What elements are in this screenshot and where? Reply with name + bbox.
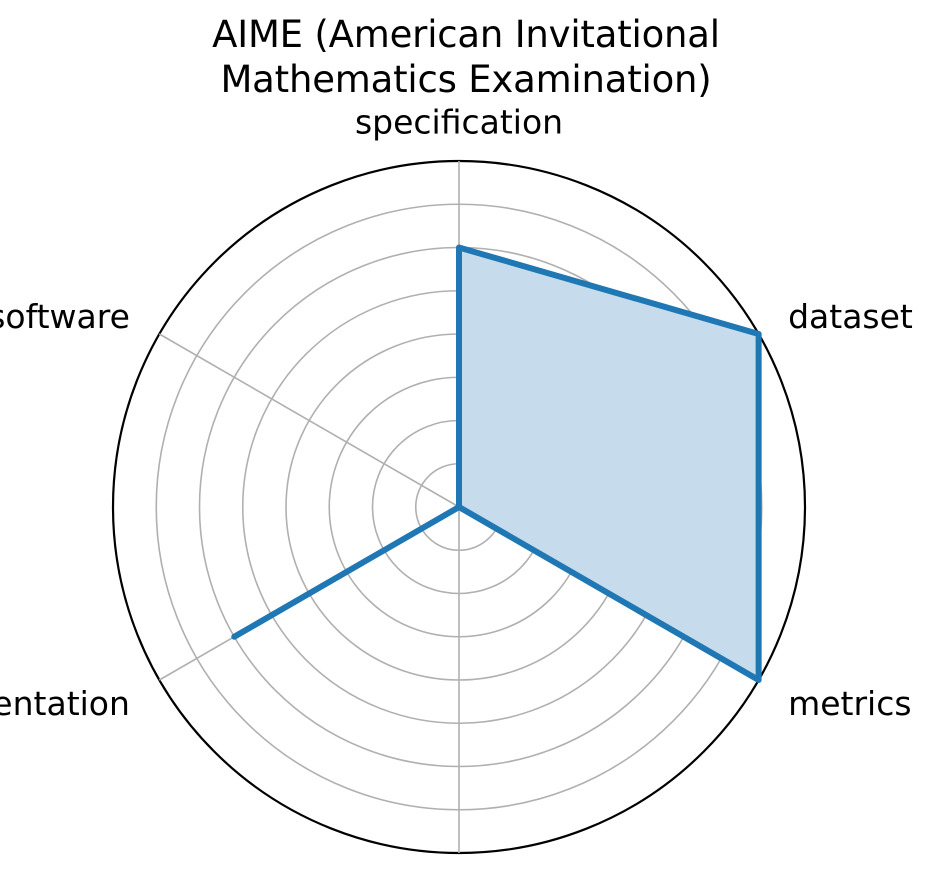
- axis-label-software: software: [0, 297, 130, 336]
- axis-label-documentation: documentation: [0, 684, 130, 723]
- axis-label-metrics: metrics: [788, 684, 911, 723]
- axis-label-specification: specification: [355, 103, 563, 142]
- axis-label-dataset: dataset: [788, 297, 913, 336]
- grid-spoke-software: [159, 334, 459, 507]
- radar-plot-area: specificationsoftwaredocumentationrefere…: [0, 0, 932, 869]
- radar-chart-figure: AIME (American Invitational Mathematics …: [0, 0, 932, 869]
